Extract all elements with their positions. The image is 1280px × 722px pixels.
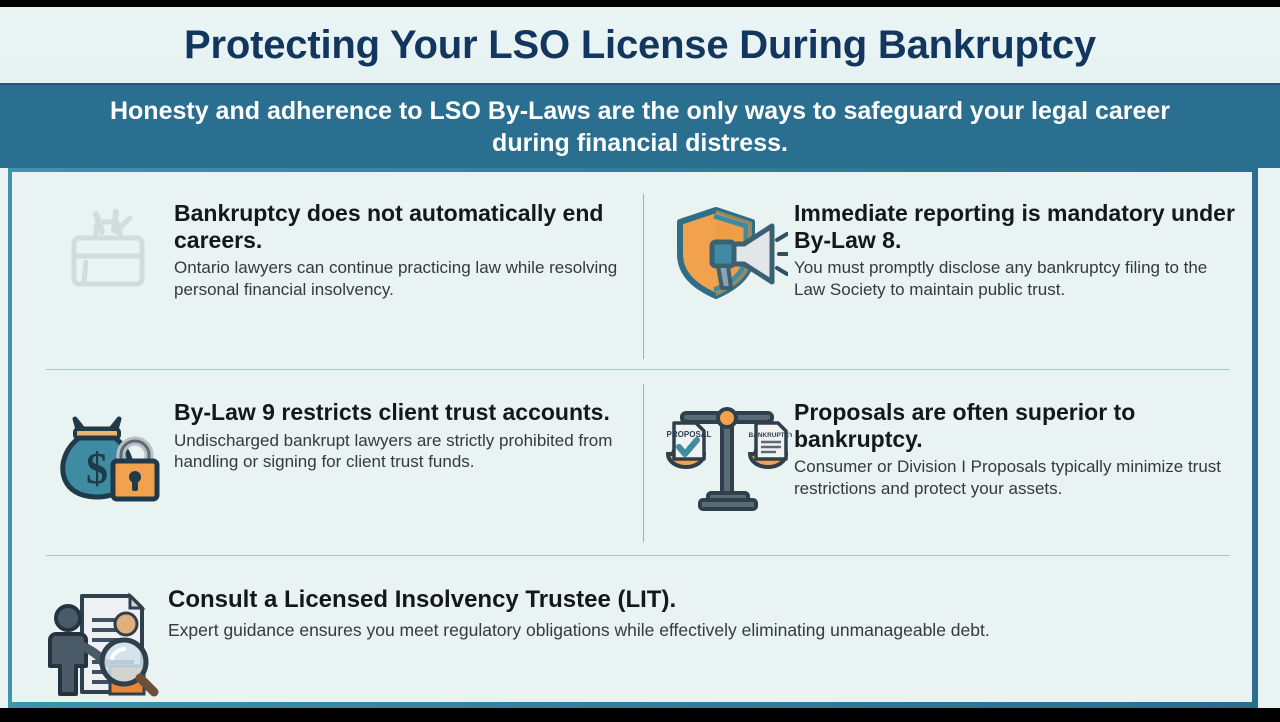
money-bag-lock-icon: $ bbox=[42, 397, 174, 515]
list-item-heading: Bankruptcy does not automatically end ca… bbox=[174, 200, 618, 253]
list-item-text: By-Law 9 restricts client trust accounts… bbox=[174, 397, 618, 473]
list-item: PROPOSAL BANKRUPTCY Proposals are often … bbox=[632, 371, 1252, 555]
content-row-2: $ By-Law 9 restricts client trust accoun… bbox=[12, 371, 1252, 555]
scale-left-label: PROPOSAL bbox=[667, 430, 712, 439]
svg-text:$: $ bbox=[86, 444, 108, 493]
subtitle-band: Honesty and adherence to LSO By-Laws are… bbox=[0, 83, 1280, 168]
list-item-body: You must promptly disclose any bankruptc… bbox=[794, 257, 1238, 301]
page-title: Protecting Your LSO License During Bankr… bbox=[184, 23, 1096, 68]
list-item-body: Undischarged bankrupt lawyers are strict… bbox=[174, 430, 618, 474]
list-item: Bankruptcy does not automatically end ca… bbox=[12, 172, 632, 368]
list-item-heading: By-Law 9 restricts client trust accounts… bbox=[174, 399, 618, 426]
list-item-text: Immediate reporting is mandatory under B… bbox=[794, 198, 1238, 301]
list-item-heading: Proposals are often superior to bankrupt… bbox=[794, 399, 1238, 452]
list-item: Immediate reporting is mandatory under B… bbox=[632, 172, 1252, 368]
row-divider-2 bbox=[46, 555, 1230, 556]
list-item-text: Proposals are often superior to bankrupt… bbox=[794, 397, 1238, 500]
bottom-letterbox-bar bbox=[0, 708, 1280, 722]
list-item-heading: Immediate reporting is mandatory under B… bbox=[794, 200, 1238, 253]
scale-right-label: BANKRUPTCY bbox=[749, 432, 792, 439]
list-item-text: Consult a Licensed Insolvency Trustee (L… bbox=[168, 584, 1238, 641]
content-row-3: Consult a Licensed Insolvency Trustee (L… bbox=[12, 558, 1252, 702]
faded-briefcase-icon bbox=[42, 198, 174, 316]
scales-of-justice-icon: PROPOSAL BANKRUPTCY bbox=[662, 397, 794, 515]
list-item: Consult a Licensed Insolvency Trustee (L… bbox=[12, 558, 1252, 702]
infographic-poster: Protecting Your LSO License During Bankr… bbox=[0, 0, 1280, 722]
list-item-heading: Consult a Licensed Insolvency Trustee (L… bbox=[168, 586, 1238, 614]
row-divider-1 bbox=[46, 369, 1230, 370]
content-panel: Bankruptcy does not automatically end ca… bbox=[12, 172, 1252, 702]
advisor-magnifier-icon bbox=[42, 584, 168, 702]
content-panel-frame: Bankruptcy does not automatically end ca… bbox=[8, 168, 1258, 708]
list-item: $ By-Law 9 restricts client trust accoun… bbox=[12, 371, 632, 555]
shield-megaphone-icon bbox=[662, 198, 794, 316]
content-row-1: Bankruptcy does not automatically end ca… bbox=[12, 172, 1252, 368]
title-zone: Protecting Your LSO License During Bankr… bbox=[0, 7, 1280, 83]
list-item-body: Expert guidance ensures you meet regulat… bbox=[168, 619, 1238, 641]
list-item-body: Ontario lawyers can continue practicing … bbox=[174, 257, 618, 301]
subtitle-text: Honesty and adherence to LSO By-Laws are… bbox=[85, 95, 1195, 159]
list-item-text: Bankruptcy does not automatically end ca… bbox=[174, 198, 618, 301]
list-item-body: Consumer or Division I Proposals typical… bbox=[794, 456, 1238, 500]
top-letterbox-bar bbox=[0, 0, 1280, 7]
